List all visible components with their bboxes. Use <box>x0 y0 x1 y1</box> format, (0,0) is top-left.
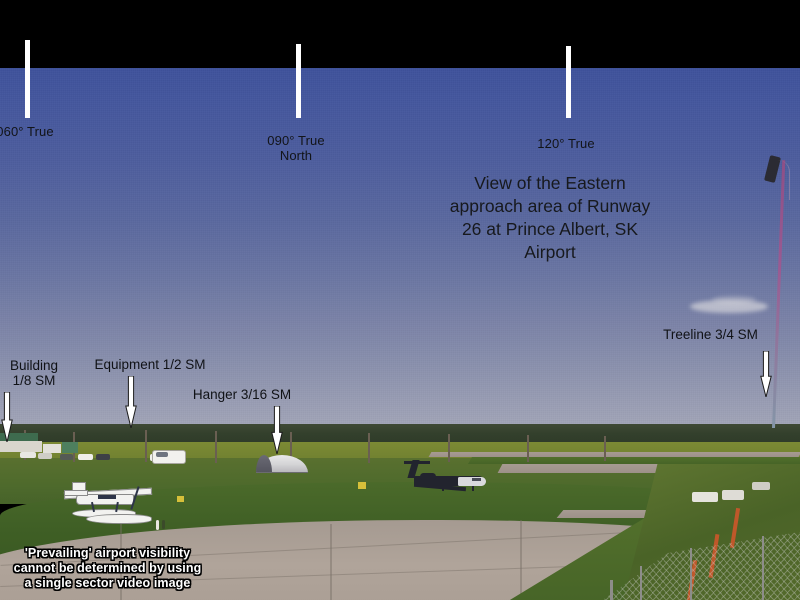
utility-pole <box>527 435 529 462</box>
label-treeline: Treeline 3/4 SM <box>618 327 800 342</box>
cloud-wisp <box>712 296 756 304</box>
building-wall <box>0 441 42 452</box>
utility-pole <box>604 436 606 461</box>
jet-main-gear <box>442 486 444 491</box>
taxiway-sign <box>358 482 366 489</box>
vehicle <box>20 452 36 458</box>
work-trailer <box>722 490 744 500</box>
vehicle <box>78 454 93 460</box>
label-equipment: Equipment 1/2 SM <box>65 357 235 372</box>
bearing-tick-090 <box>296 44 301 118</box>
apron-marker <box>162 520 165 529</box>
vehicle-dark <box>96 454 110 460</box>
van-window <box>156 452 168 457</box>
bearing-label-120: 120° True <box>506 136 626 151</box>
apron-seam <box>330 524 332 600</box>
sky-grain <box>0 68 800 430</box>
bearing-tick-120 <box>566 46 571 118</box>
utility-pole <box>215 431 217 463</box>
apron-cone <box>156 520 159 530</box>
sky <box>0 68 800 430</box>
vehicle <box>60 454 73 460</box>
fence-post <box>762 536 764 600</box>
bearing-tick-060 <box>25 40 30 118</box>
taxiway-sign <box>177 496 184 502</box>
apron-seam <box>520 520 522 600</box>
work-trailer <box>692 492 718 502</box>
floatplane-float-right <box>86 514 152 524</box>
top-black-band <box>0 0 800 68</box>
floatplane-stabilizer <box>64 490 88 496</box>
jet-horizontal-stabilizer <box>404 461 430 464</box>
view-description-title: View of the Eastern approach area of Run… <box>420 172 680 264</box>
jet-engine <box>420 473 436 480</box>
shed-green <box>62 442 78 453</box>
runway-verge <box>468 457 800 464</box>
fence-post <box>690 548 692 600</box>
floatplane <box>58 476 162 526</box>
gate-post <box>610 580 613 600</box>
jet-cockpit-window <box>472 478 481 481</box>
utility-pole <box>368 433 370 463</box>
camera-image: 060° True090° True North120° True View o… <box>0 0 800 600</box>
prevailing-visibility-caption: 'Prevailing' airport visibility cannot b… <box>10 546 205 591</box>
fence-post <box>640 566 642 600</box>
label-hanger: Hanger 3/16 SM <box>152 387 332 402</box>
work-vehicle <box>752 482 770 490</box>
floatplane-window <box>98 495 116 499</box>
utility-pole <box>145 430 147 462</box>
business-jet <box>404 458 490 498</box>
vehicle <box>38 453 52 459</box>
bearing-label-060: 060° True <box>0 124 85 139</box>
mast-guy-wire <box>777 160 790 200</box>
shed-white <box>43 444 61 453</box>
jet-nose-gear <box>472 486 474 491</box>
bearing-label-090: 090° True North <box>236 133 356 163</box>
